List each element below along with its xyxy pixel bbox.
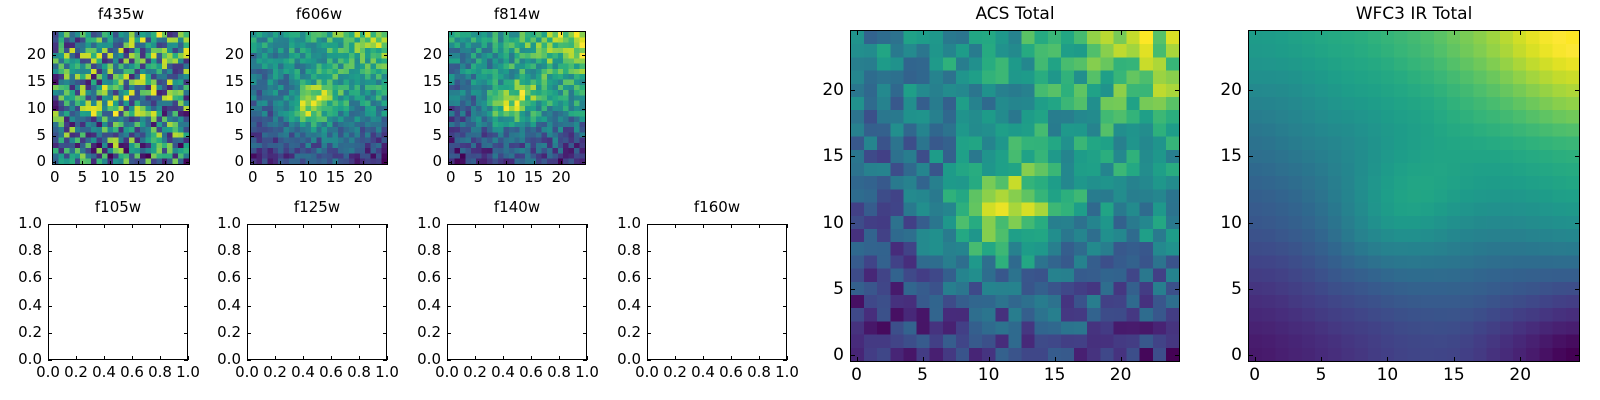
xticklabel-wfc3-ir-total-0: 0 bbox=[1225, 365, 1285, 385]
yticklabel-f140w-0: 0.0 bbox=[367, 350, 441, 368]
xtick-f814w-1 bbox=[478, 161, 479, 165]
axes-f814w bbox=[448, 31, 586, 165]
ytick-f125w-4 bbox=[247, 251, 251, 252]
ytick-f606w-1 bbox=[250, 136, 254, 137]
yticklabel-f125w-2: 0.4 bbox=[167, 296, 241, 314]
ytick-f606w-3 bbox=[250, 82, 254, 83]
ytick-f160w-5 bbox=[647, 224, 651, 225]
ytick-f125w-5 bbox=[247, 224, 251, 225]
yticklabel-f140w-4: 0.8 bbox=[367, 241, 441, 259]
xtick-top-f105w-2 bbox=[104, 224, 105, 228]
xtick-f606w-1 bbox=[280, 161, 281, 165]
xtick-top-f435w-2 bbox=[110, 31, 111, 35]
xtick-f140w-1 bbox=[475, 356, 476, 360]
ytick-f140w-0 bbox=[447, 360, 451, 361]
xtick-acs-total-1 bbox=[923, 357, 924, 362]
yticklabel-f160w-5: 1.0 bbox=[567, 214, 641, 232]
ytick-f105w-0 bbox=[48, 360, 52, 361]
xtick-top-f435w-1 bbox=[82, 31, 83, 35]
yticklabel-acs-total-0: 0 bbox=[770, 345, 844, 365]
xtick-top-f435w-4 bbox=[165, 31, 166, 35]
ytick-right-wfc3-ir-total-4 bbox=[1575, 90, 1580, 91]
xticklabel-f814w-4: 20 bbox=[531, 168, 591, 186]
axes-f125w bbox=[247, 224, 387, 360]
xtick-top-wfc3-ir-total-2 bbox=[1387, 30, 1388, 35]
xtick-top-f105w-3 bbox=[132, 224, 133, 228]
ytick-f105w-2 bbox=[48, 306, 52, 307]
xticklabel-wfc3-ir-total-4: 20 bbox=[1490, 365, 1550, 385]
heatmap-f606w bbox=[251, 32, 387, 164]
yticklabel-f435w-2: 10 bbox=[0, 99, 46, 117]
yticklabel-acs-total-3: 15 bbox=[770, 146, 844, 166]
ytick-right-wfc3-ir-total-3 bbox=[1575, 156, 1580, 157]
yticklabel-f105w-1: 0.2 bbox=[0, 323, 42, 341]
ytick-acs-total-0 bbox=[850, 355, 855, 356]
xtick-top-acs-total-3 bbox=[1055, 30, 1056, 35]
ytick-f125w-3 bbox=[247, 278, 251, 279]
panel-title-f814w: f814w bbox=[368, 5, 666, 23]
ytick-f814w-4 bbox=[448, 55, 452, 56]
xtick-f105w-4 bbox=[160, 356, 161, 360]
yticklabel-f160w-4: 0.8 bbox=[567, 241, 641, 259]
xtick-top-f606w-1 bbox=[280, 31, 281, 35]
xtick-acs-total-4 bbox=[1121, 357, 1122, 362]
xtick-f160w-4 bbox=[759, 356, 760, 360]
yticklabel-f140w-3: 0.6 bbox=[367, 268, 441, 286]
xticklabel-wfc3-ir-total-3: 15 bbox=[1424, 365, 1484, 385]
xtick-top-wfc3-ir-total-1 bbox=[1321, 30, 1322, 35]
heatmap-f814w bbox=[449, 32, 585, 164]
ytick-f140w-5 bbox=[447, 224, 451, 225]
yticklabel-f606w-4: 20 bbox=[170, 45, 244, 63]
heatmap-f435w bbox=[53, 32, 189, 164]
yticklabel-f814w-3: 15 bbox=[368, 72, 442, 90]
ytick-f140w-2 bbox=[447, 306, 451, 307]
yticklabel-f105w-5: 1.0 bbox=[0, 214, 42, 232]
ytick-f140w-4 bbox=[447, 251, 451, 252]
yticklabel-f160w-1: 0.2 bbox=[567, 323, 641, 341]
yticklabel-wfc3-ir-total-4: 20 bbox=[1168, 80, 1242, 100]
ytick-f435w-4 bbox=[52, 55, 56, 56]
ytick-right-wfc3-ir-total-0 bbox=[1575, 355, 1580, 356]
ytick-f435w-0 bbox=[52, 162, 56, 163]
xticklabel-acs-total-3: 15 bbox=[1025, 365, 1085, 385]
xtick-f435w-3 bbox=[138, 161, 139, 165]
yticklabel-f814w-0: 0 bbox=[368, 152, 442, 170]
xtick-top-f125w-2 bbox=[303, 224, 304, 228]
yticklabel-f814w-4: 20 bbox=[368, 45, 442, 63]
ytick-f140w-3 bbox=[447, 278, 451, 279]
xtick-f125w-3 bbox=[331, 356, 332, 360]
yticklabel-acs-total-1: 5 bbox=[770, 279, 844, 299]
xticklabel-acs-total-1: 5 bbox=[893, 365, 953, 385]
ytick-acs-total-1 bbox=[850, 289, 855, 290]
xticklabel-acs-total-0: 0 bbox=[827, 365, 887, 385]
xticklabel-wfc3-ir-total-1: 5 bbox=[1291, 365, 1351, 385]
yticklabel-f140w-5: 1.0 bbox=[367, 214, 441, 232]
yticklabel-wfc3-ir-total-0: 0 bbox=[1168, 345, 1242, 365]
xtick-f105w-2 bbox=[104, 356, 105, 360]
yticklabel-f125w-0: 0.0 bbox=[167, 350, 241, 368]
xtick-f814w-2 bbox=[506, 161, 507, 165]
yticklabel-f160w-0: 0.0 bbox=[567, 350, 641, 368]
xtick-top-f814w-3 bbox=[534, 31, 535, 35]
xtick-top-acs-total-1 bbox=[923, 30, 924, 35]
ytick-f160w-3 bbox=[647, 278, 651, 279]
heatmap-wfc3-ir-total bbox=[1249, 31, 1579, 361]
ytick-f814w-3 bbox=[448, 82, 452, 83]
ytick-acs-total-2 bbox=[850, 223, 855, 224]
yticklabel-wfc3-ir-total-2: 10 bbox=[1168, 213, 1242, 233]
ytick-f606w-2 bbox=[250, 109, 254, 110]
xtick-top-f814w-2 bbox=[506, 31, 507, 35]
ytick-wfc3-ir-total-0 bbox=[1248, 355, 1253, 356]
ytick-f125w-2 bbox=[247, 306, 251, 307]
figure-canvas: f435w0510152005101520f606w05101520051015… bbox=[0, 0, 1600, 400]
xtick-wfc3-ir-total-2 bbox=[1387, 357, 1388, 362]
yticklabel-f125w-4: 0.8 bbox=[167, 241, 241, 259]
xtick-top-f814w-0 bbox=[451, 31, 452, 35]
xtick-top-f814w-1 bbox=[478, 31, 479, 35]
xtick-top-f606w-3 bbox=[336, 31, 337, 35]
xtick-top-wfc3-ir-total-4 bbox=[1520, 30, 1521, 35]
yticklabel-f814w-2: 10 bbox=[368, 99, 442, 117]
panel-f814w: f814w0510152005101520 bbox=[368, 3, 666, 197]
xtick-f814w-4 bbox=[561, 161, 562, 165]
xtick-top-f125w-4 bbox=[359, 224, 360, 228]
xtick-f435w-2 bbox=[110, 161, 111, 165]
xtick-f606w-2 bbox=[308, 161, 309, 165]
xtick-top-f140w-2 bbox=[503, 224, 504, 228]
yticklabel-f435w-3: 15 bbox=[0, 72, 46, 90]
ytick-f435w-3 bbox=[52, 82, 56, 83]
ytick-right-f814w-3 bbox=[582, 82, 586, 83]
xtick-top-f814w-4 bbox=[561, 31, 562, 35]
yticklabel-f105w-0: 0.0 bbox=[0, 350, 42, 368]
xtick-top-f435w-0 bbox=[55, 31, 56, 35]
ytick-f160w-4 bbox=[647, 251, 651, 252]
ytick-f606w-0 bbox=[250, 162, 254, 163]
xtick-top-f125w-1 bbox=[275, 224, 276, 228]
ytick-f105w-1 bbox=[48, 333, 52, 334]
ytick-f140w-1 bbox=[447, 333, 451, 334]
xtick-f160w-2 bbox=[703, 356, 704, 360]
axes-f160w bbox=[647, 224, 787, 360]
ytick-f814w-0 bbox=[448, 162, 452, 163]
xtick-top-f140w-4 bbox=[559, 224, 560, 228]
ytick-right-wfc3-ir-total-1 bbox=[1575, 289, 1580, 290]
axes-acs-total bbox=[850, 30, 1180, 362]
xtick-top-f140w-1 bbox=[475, 224, 476, 228]
ytick-f125w-1 bbox=[247, 333, 251, 334]
yticklabel-wfc3-ir-total-1: 5 bbox=[1168, 279, 1242, 299]
ytick-wfc3-ir-total-1 bbox=[1248, 289, 1253, 290]
ytick-f606w-4 bbox=[250, 55, 254, 56]
ytick-f105w-5 bbox=[48, 224, 52, 225]
ytick-wfc3-ir-total-3 bbox=[1248, 156, 1253, 157]
xtick-f125w-2 bbox=[303, 356, 304, 360]
xtick-f160w-1 bbox=[675, 356, 676, 360]
xtick-f140w-3 bbox=[531, 356, 532, 360]
ytick-right-f814w-0 bbox=[582, 162, 586, 163]
heatmap-acs-total bbox=[851, 31, 1179, 361]
xtick-f105w-3 bbox=[132, 356, 133, 360]
ytick-wfc3-ir-total-4 bbox=[1248, 90, 1253, 91]
yticklabel-f606w-3: 15 bbox=[170, 72, 244, 90]
ytick-f160w-1 bbox=[647, 333, 651, 334]
yticklabel-f606w-1: 5 bbox=[170, 126, 244, 144]
yticklabel-wfc3-ir-total-3: 15 bbox=[1168, 146, 1242, 166]
xtick-top-wfc3-ir-total-0 bbox=[1255, 30, 1256, 35]
xtick-top-f160w-4 bbox=[759, 224, 760, 228]
xtick-f140w-2 bbox=[503, 356, 504, 360]
yticklabel-acs-total-2: 10 bbox=[770, 213, 844, 233]
ytick-right-f814w-2 bbox=[582, 109, 586, 110]
yticklabel-f125w-3: 0.6 bbox=[167, 268, 241, 286]
xtick-top-acs-total-0 bbox=[857, 30, 858, 35]
ytick-f160w-2 bbox=[647, 306, 651, 307]
panel-title-wfc3-ir-total: WFC3 IR Total bbox=[1168, 4, 1600, 24]
xtick-top-f606w-2 bbox=[308, 31, 309, 35]
ytick-right-wfc3-ir-total-2 bbox=[1575, 223, 1580, 224]
yticklabel-f160w-2: 0.4 bbox=[567, 296, 641, 314]
ytick-f125w-0 bbox=[247, 360, 251, 361]
xtick-wfc3-ir-total-0 bbox=[1255, 357, 1256, 362]
yticklabel-f125w-1: 0.2 bbox=[167, 323, 241, 341]
xticklabel-wfc3-ir-total-2: 10 bbox=[1357, 365, 1417, 385]
yticklabel-f435w-4: 20 bbox=[0, 45, 46, 63]
ytick-f105w-3 bbox=[48, 278, 52, 279]
yticklabel-f435w-0: 0 bbox=[0, 152, 46, 170]
xtick-top-f606w-4 bbox=[363, 31, 364, 35]
xtick-top-f140w-3 bbox=[531, 224, 532, 228]
ytick-right-f814w-4 bbox=[582, 55, 586, 56]
yticklabel-f140w-2: 0.4 bbox=[367, 296, 441, 314]
xtick-top-f435w-3 bbox=[138, 31, 139, 35]
xtick-f105w-1 bbox=[76, 356, 77, 360]
ytick-f814w-2 bbox=[448, 109, 452, 110]
xtick-f606w-3 bbox=[336, 161, 337, 165]
xtick-wfc3-ir-total-4 bbox=[1520, 357, 1521, 362]
yticklabel-f105w-4: 0.8 bbox=[0, 241, 42, 259]
xtick-f606w-4 bbox=[363, 161, 364, 165]
xtick-acs-total-2 bbox=[989, 357, 990, 362]
xtick-acs-total-0 bbox=[857, 357, 858, 362]
yticklabel-f140w-1: 0.2 bbox=[367, 323, 441, 341]
xtick-top-f160w-2 bbox=[703, 224, 704, 228]
xtick-wfc3-ir-total-1 bbox=[1321, 357, 1322, 362]
ytick-wfc3-ir-total-2 bbox=[1248, 223, 1253, 224]
xtick-top-f105w-1 bbox=[76, 224, 77, 228]
xticklabel-acs-total-4: 20 bbox=[1091, 365, 1151, 385]
xtick-top-f160w-1 bbox=[675, 224, 676, 228]
yticklabel-f105w-2: 0.4 bbox=[0, 296, 42, 314]
ytick-acs-total-4 bbox=[850, 90, 855, 91]
yticklabel-f105w-3: 0.6 bbox=[0, 268, 42, 286]
xtick-f435w-4 bbox=[165, 161, 166, 165]
ytick-f160w-0 bbox=[647, 360, 651, 361]
yticklabel-f606w-2: 10 bbox=[170, 99, 244, 117]
xtick-f814w-3 bbox=[534, 161, 535, 165]
xtick-f125w-1 bbox=[275, 356, 276, 360]
xticklabel-acs-total-2: 10 bbox=[959, 365, 1019, 385]
xtick-top-acs-total-2 bbox=[989, 30, 990, 35]
ytick-f814w-1 bbox=[448, 136, 452, 137]
panel-wfc3-ir-total: WFC3 IR Total0510152005101520 bbox=[1168, 2, 1600, 394]
ytick-right-f814w-1 bbox=[582, 136, 586, 137]
yticklabel-f814w-1: 5 bbox=[368, 126, 442, 144]
xtick-top-acs-total-4 bbox=[1121, 30, 1122, 35]
ytick-acs-total-3 bbox=[850, 156, 855, 157]
yticklabel-f435w-1: 5 bbox=[0, 126, 46, 144]
xtick-f435w-1 bbox=[82, 161, 83, 165]
xtick-f125w-4 bbox=[359, 356, 360, 360]
yticklabel-f606w-0: 0 bbox=[170, 152, 244, 170]
axes-f140w bbox=[447, 224, 587, 360]
ytick-f105w-4 bbox=[48, 251, 52, 252]
xtick-top-f606w-0 bbox=[253, 31, 254, 35]
xtick-acs-total-3 bbox=[1055, 357, 1056, 362]
xtick-f140w-4 bbox=[559, 356, 560, 360]
yticklabel-acs-total-4: 20 bbox=[770, 80, 844, 100]
xtick-wfc3-ir-total-3 bbox=[1454, 357, 1455, 362]
xtick-top-wfc3-ir-total-3 bbox=[1454, 30, 1455, 35]
axes-wfc3-ir-total bbox=[1248, 30, 1580, 362]
yticklabel-f125w-5: 1.0 bbox=[167, 214, 241, 232]
yticklabel-f160w-3: 0.6 bbox=[567, 268, 641, 286]
xtick-top-f125w-3 bbox=[331, 224, 332, 228]
xtick-top-f160w-3 bbox=[731, 224, 732, 228]
xtick-top-f105w-4 bbox=[160, 224, 161, 228]
xtick-f160w-3 bbox=[731, 356, 732, 360]
ytick-f435w-2 bbox=[52, 109, 56, 110]
ytick-f435w-1 bbox=[52, 136, 56, 137]
